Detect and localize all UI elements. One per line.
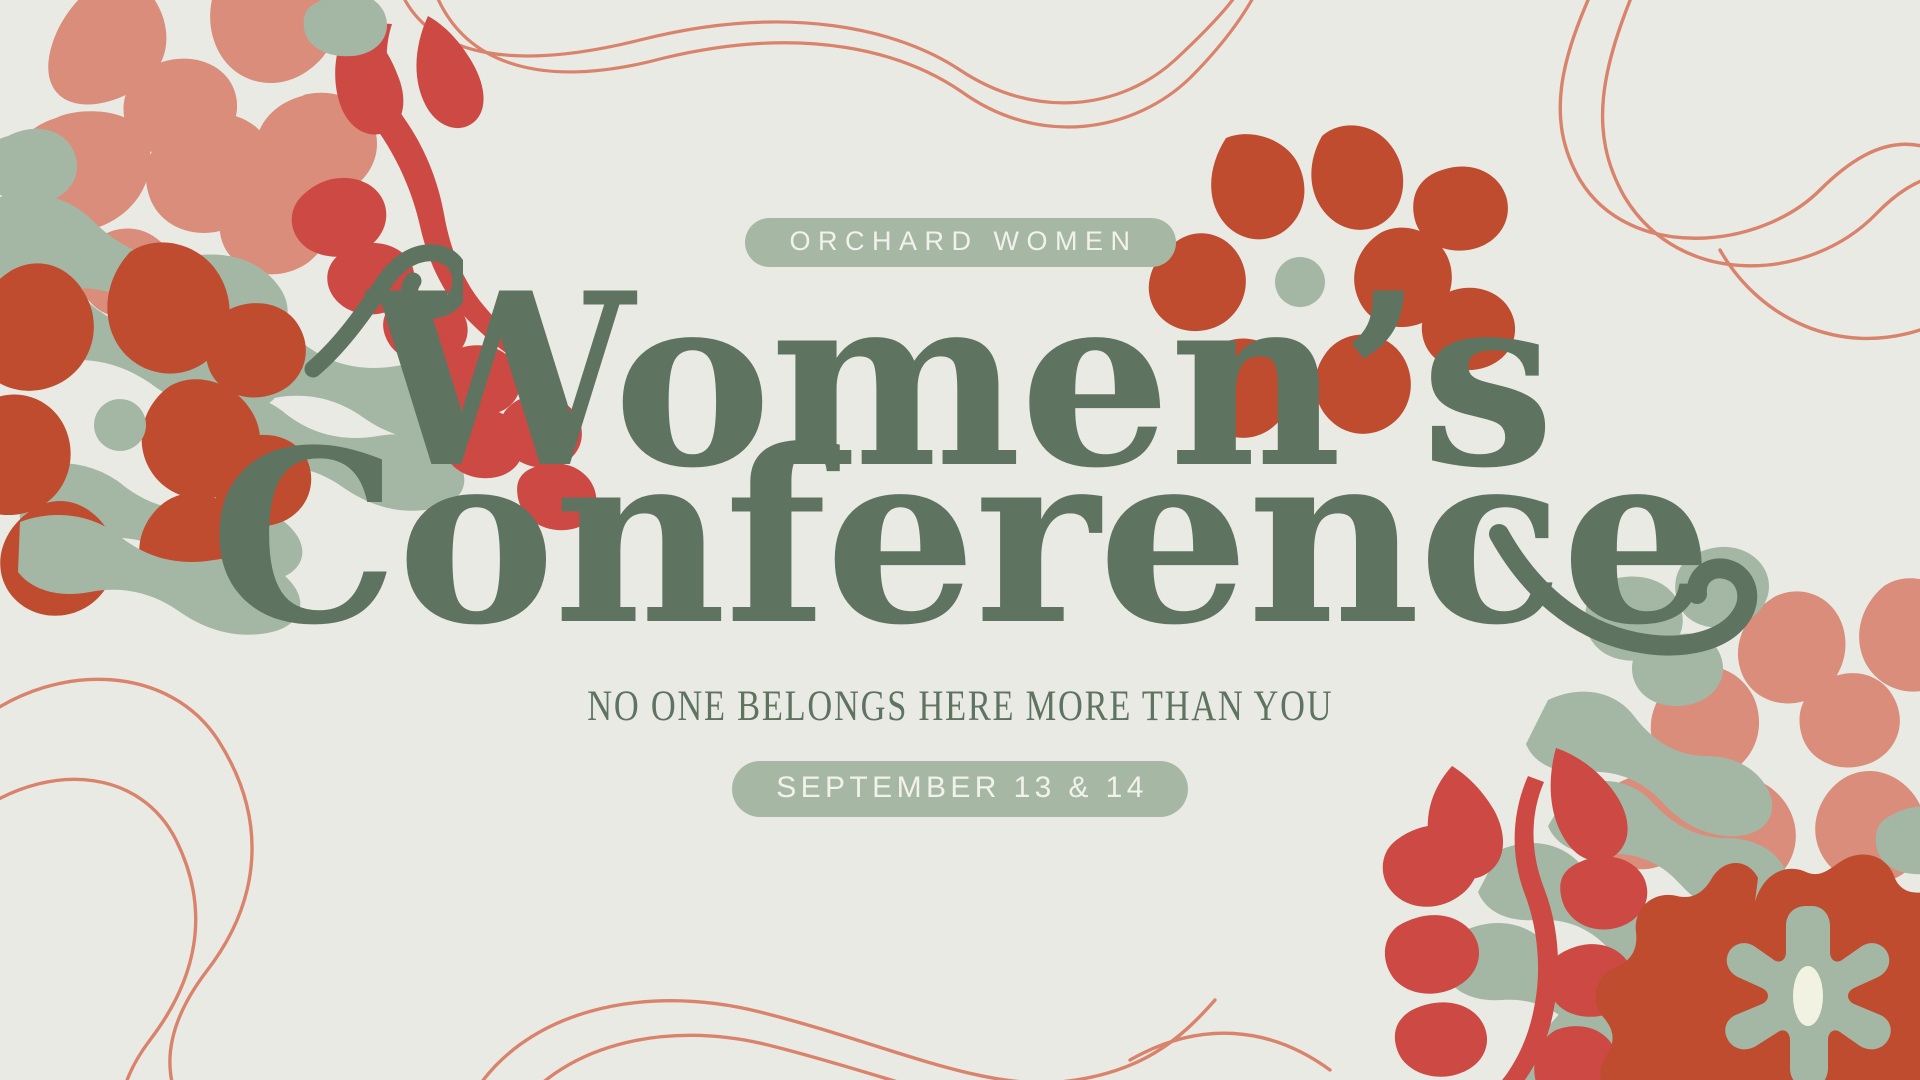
- poster-tagline: NO ONE BELONGS HERE MORE THAN YOU: [587, 682, 1333, 731]
- poster-canvas: ORCHARD WOMEN Women’s Conference NO ONE …: [0, 0, 1920, 1080]
- date-label: SEPTEMBER 13 & 14: [772, 773, 1148, 803]
- poster-title: Women’s Conference: [209, 261, 1710, 644]
- date-badge: SEPTEMBER 13 & 14: [732, 761, 1188, 817]
- title-line-conference-text: Conference: [209, 399, 1710, 678]
- title-line-conference: Conference: [209, 434, 1710, 643]
- poster-content: ORCHARD WOMEN Women’s Conference NO ONE …: [0, 0, 1920, 1080]
